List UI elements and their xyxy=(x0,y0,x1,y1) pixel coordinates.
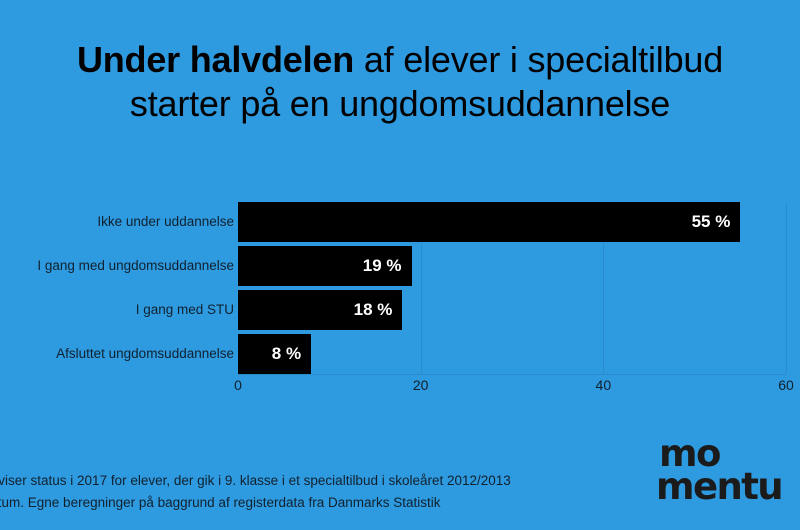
title-emphasis: Under halvdelen xyxy=(77,39,354,80)
x-axis-line xyxy=(238,374,786,375)
page-title: Under halvdelen af elever i specialtilbu… xyxy=(0,38,800,126)
momentum-logo: mo mentu xyxy=(659,437,800,503)
bar-chart: 55 %Ikke under uddannelse19 %I gang med … xyxy=(0,185,800,390)
title-line-1-rest: af elever i specialtilbud xyxy=(354,39,723,80)
bar-value-label: 8 % xyxy=(272,334,301,374)
infographic-root: Under halvdelen af elever i specialtilbu… xyxy=(0,0,800,530)
bar-row[interactable]: 8 % xyxy=(238,334,311,374)
bar-value-label: 55 % xyxy=(692,202,731,242)
gridline-60 xyxy=(786,202,787,374)
bar-row[interactable]: 19 % xyxy=(238,246,412,286)
x-tick-label-60: 60 xyxy=(778,377,794,393)
x-tick-label-40: 40 xyxy=(596,377,612,393)
category-label: Afsluttet ungdomsuddannelse xyxy=(56,334,234,374)
bar-row[interactable]: 18 % xyxy=(238,290,402,330)
x-tick-label-20: 20 xyxy=(413,377,429,393)
category-label: Ikke under uddannelse xyxy=(97,202,234,242)
category-label: I gang med ungdomsuddannelse xyxy=(37,246,234,286)
bar-1[interactable] xyxy=(238,202,740,242)
category-label: I gang med STU xyxy=(136,290,234,330)
x-tick-label-0: 0 xyxy=(234,377,242,393)
bar-value-label: 19 % xyxy=(363,246,402,286)
logo-line-2: mentu xyxy=(656,470,800,503)
title-line-2: starter på en ungdomsuddannelse xyxy=(0,82,800,126)
title-line-1: Under halvdelen af elever i specialtilbu… xyxy=(0,38,800,82)
bar-row[interactable]: 55 % xyxy=(238,202,740,242)
bar-value-label: 18 % xyxy=(354,290,393,330)
